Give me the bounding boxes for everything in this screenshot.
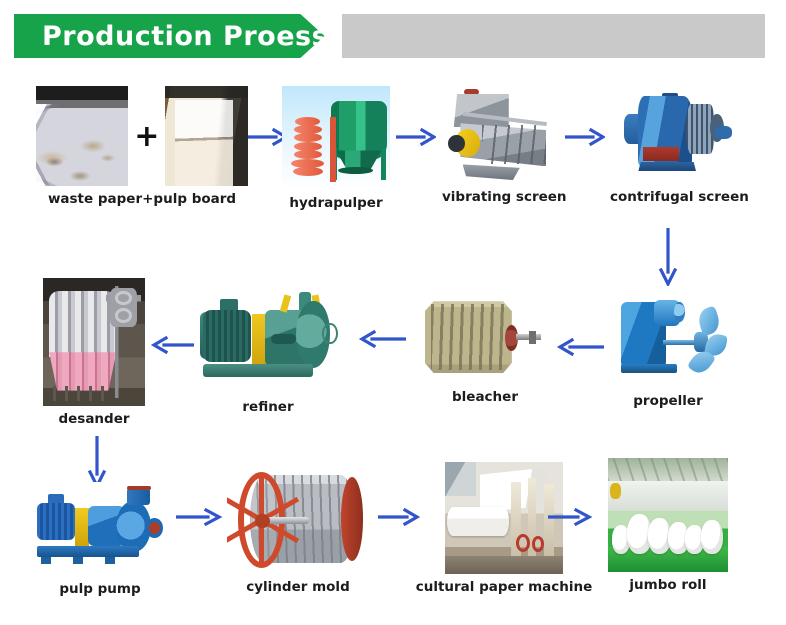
cultural-paper-machine-photo: [445, 462, 563, 574]
hydrapulper-leg-right: [381, 148, 386, 179]
propeller-motor-end: [674, 302, 685, 322]
node-waste-paper-pulp-board[interactable]: + waste paper+pulp board: [36, 86, 248, 207]
vibrating-screen-ribs: [482, 125, 546, 164]
jumbo-roll-photo: [608, 458, 728, 572]
bleacher-photo: [421, 292, 549, 384]
node-cylinder-mold[interactable]: cylinder mold: [226, 466, 370, 595]
vibrating-screen-hub: [448, 135, 465, 152]
paper-machine-overhead-structure: [445, 462, 476, 496]
cylinder-mold-photo: [227, 466, 369, 574]
node-bleacher[interactable]: bleacher: [420, 292, 550, 405]
jumbo-roll-back-wall: [608, 481, 728, 511]
node-jumbo-roll[interactable]: jumbo roll: [600, 458, 736, 593]
refiner-inspection-slot: [271, 334, 297, 345]
desander-cone-tips: [53, 386, 112, 401]
jumbo-roll-yellow-equipment: [610, 483, 621, 499]
node-label: propeller: [608, 393, 728, 409]
desander-manifold-rings: [110, 288, 137, 326]
hydrapulper-screw-shaft: [330, 117, 336, 181]
jumbo-roll-paper-rolls: [610, 508, 725, 554]
paper-machine-floor: [445, 556, 563, 574]
node-label: refiner: [196, 399, 340, 415]
node-label: desander: [42, 411, 146, 427]
contrifugal-screen-photo: [612, 84, 732, 184]
cylinder-mold-shaft: [267, 517, 310, 525]
arrow-paper-machine-to-jumbo-roll: [548, 508, 592, 526]
desander-photo: [43, 278, 145, 406]
arrow-vibrating-to-contrifugal-screen: [565, 128, 605, 146]
arrow-refiner-to-desander: [150, 336, 194, 354]
pulp-pump-outlet: [127, 488, 150, 505]
pulp-pump-photo: [33, 482, 167, 576]
pulp-pump-base: [37, 546, 139, 557]
arrow-contrifugal-screen-to-propeller: [658, 228, 678, 286]
vibrating-screen-photo: [445, 86, 555, 184]
plus-symbol: +: [134, 119, 159, 154]
node-refiner[interactable]: refiner: [196, 286, 340, 415]
waste-paper-photo: [36, 86, 128, 186]
pulp-pump-suction-flange: [146, 518, 163, 539]
propeller-base: [621, 364, 678, 373]
node-label: cylinder mold: [226, 579, 370, 595]
header-green-chevron: Production Proess: [14, 14, 334, 58]
arrow-pulp-pump-to-cylinder-mold: [176, 508, 222, 526]
node-label: hydrapulper: [282, 195, 390, 211]
node-hydrapulper[interactable]: hydrapulper: [282, 86, 390, 211]
arrow-propeller-to-bleacher: [556, 338, 604, 356]
node-label: pulp pump: [32, 581, 168, 597]
page-title: Production Proess: [14, 21, 328, 52]
vibrating-screen-hopper: [454, 94, 509, 127]
node-contrifugal-screen[interactable]: contrifugal screen: [610, 84, 734, 205]
node-cultural-paper-machine[interactable]: cultural paper machine: [414, 462, 594, 595]
pulp-board-photo: [165, 86, 248, 186]
pulp-pump-outlet-flange: [127, 486, 151, 491]
pulp-pump-feet: [41, 557, 135, 564]
paper-machine-red-wheel-1: [516, 534, 530, 552]
hydrapulper-photo: [282, 86, 390, 190]
hydrapulper-base: [338, 167, 373, 174]
arrow-hydrapulper-to-vibrating-screen: [396, 128, 436, 146]
node-label: vibrating screen: [442, 189, 558, 205]
node-label: cultural paper machine: [414, 579, 594, 595]
node-label: bleacher: [420, 389, 550, 405]
contrifugal-screen-base: [638, 162, 696, 171]
node-pulp-pump[interactable]: pulp pump: [32, 482, 168, 597]
jumbo-roll-ceiling: [608, 458, 728, 483]
contrifugal-screen-red-panel: [643, 147, 679, 161]
bleacher-coupling: [529, 331, 537, 344]
arrow-desander-to-pulp-pump: [87, 436, 107, 488]
hydrapulper-tank: [331, 101, 387, 159]
refiner-photo: [197, 286, 339, 394]
contrifugal-screen-outlet-pipe: [715, 126, 732, 139]
bleacher-ribs: [431, 304, 505, 370]
vibrating-screen-foot: [463, 164, 520, 180]
node-label: contrifugal screen: [610, 189, 734, 205]
node-propeller[interactable]: propeller: [608, 288, 728, 409]
pulp-pump-motor: [37, 503, 75, 541]
cylinder-mold-right-cap: [341, 477, 364, 561]
header-banner: Production Proess: [0, 0, 786, 68]
node-desander[interactable]: desander: [42, 278, 146, 427]
propeller-photo: [609, 288, 727, 388]
paper-machine-red-wheel-2: [532, 536, 544, 552]
hydrapulper-screw: [291, 117, 326, 177]
node-label: jumbo roll: [600, 577, 736, 593]
refiner-motor: [203, 310, 251, 362]
refiner-base: [203, 364, 314, 377]
refiner-handwheel: [322, 323, 338, 345]
arrow-bleacher-to-refiner: [358, 330, 406, 348]
paper-machine-paper-roll: [447, 507, 508, 536]
node-label: waste paper+pulp board: [36, 191, 248, 207]
cylinder-mold-hub: [255, 514, 269, 528]
node-vibrating-screen[interactable]: vibrating screen: [442, 86, 558, 205]
